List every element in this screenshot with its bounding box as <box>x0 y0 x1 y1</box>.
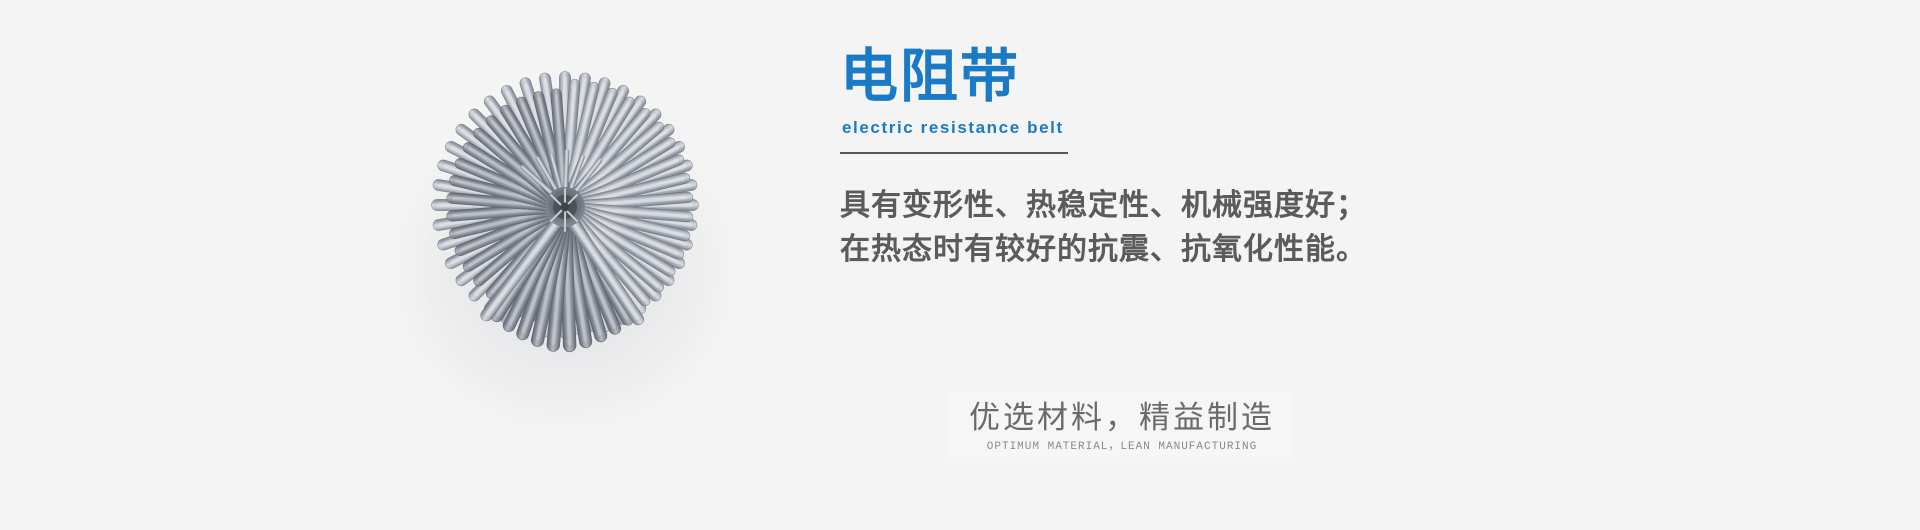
page-subtitle: electric resistance belt <box>842 118 1360 138</box>
tagline-en: OPTIMUM MATERIAL，LEAN MANUFACTURING <box>962 440 1282 455</box>
description-block: 具有变形性、热稳定性、机械强度好； 在热态时有较好的抗震、抗氧化性能。 <box>840 184 1460 272</box>
description-line-1: 具有变形性、热稳定性、机械强度好； <box>840 184 1460 228</box>
product-image <box>355 55 775 465</box>
title-divider <box>840 152 1068 154</box>
description-line-2: 在热态时有较好的抗震、抗氧化性能。 <box>840 228 1460 272</box>
product-banner: 电阻带 electric resistance belt 具有变形性、热稳定性、… <box>0 0 1920 530</box>
tagline-block: 优选材料，精益制造 OPTIMUM MATERIAL，LEAN MANUFACT… <box>950 392 1294 463</box>
page-title: 电阻带 <box>840 46 1360 108</box>
title-block: 电阻带 electric resistance belt <box>840 46 1360 154</box>
resistance-belt-bundle-icon <box>355 55 775 465</box>
banner-content: 电阻带 electric resistance belt 具有变形性、热稳定性、… <box>840 0 1740 530</box>
tagline-cn: 优选材料，精益制造 <box>962 398 1282 438</box>
